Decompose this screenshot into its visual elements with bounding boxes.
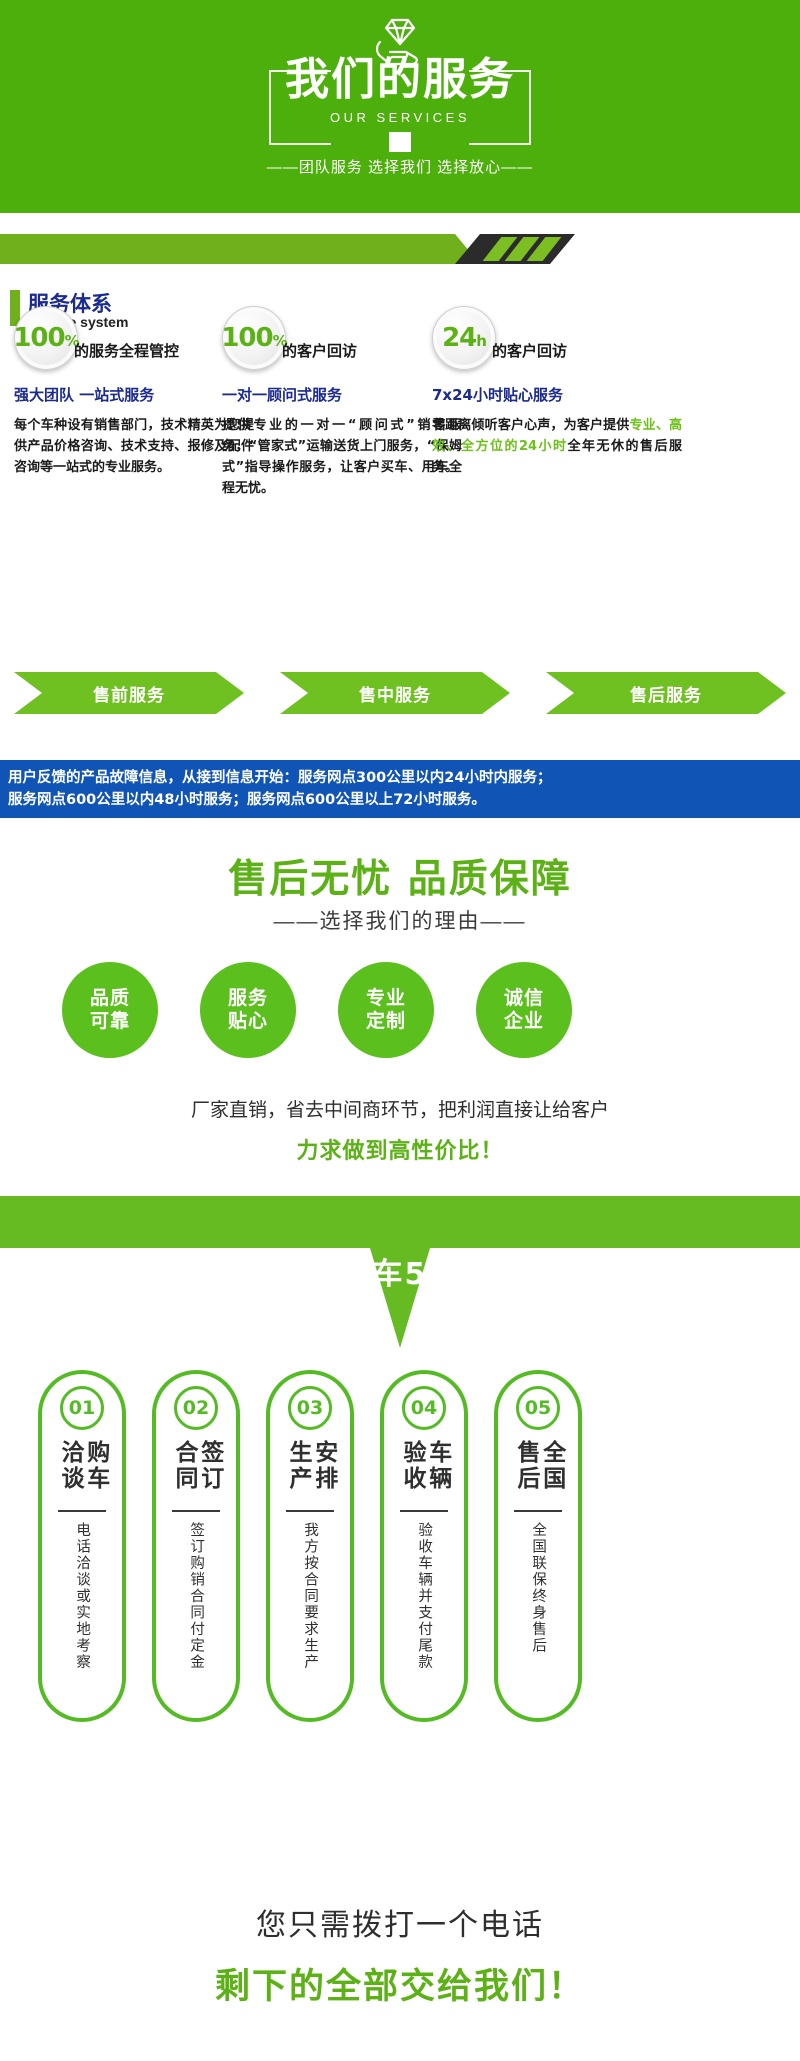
circle-line-2: 贴心 xyxy=(228,1010,268,1033)
guarantee-circle-integrity: 诚信 企业 xyxy=(476,962,572,1058)
guarantee-title: 售后无忧 品质保障 xyxy=(0,848,800,904)
metric-badge: 24h xyxy=(432,306,496,370)
metric-badge: 100% xyxy=(14,306,78,370)
service-policy-banner: 用户反馈的产品故障信息，从接到信息开始：服务网点300公里以内24小时内服务； … xyxy=(0,760,800,818)
circle-line-2: 定制 xyxy=(366,1010,406,1033)
guarantee-circle-quality: 品质 可靠 xyxy=(62,962,158,1058)
feature-body: 提供专业的一对一“顾问式”销售服务，“管家式”运输送货上门服务，“保姆式”指导操… xyxy=(222,415,462,499)
feature-body: 每个车种设有销售部门，技术精英为您提供产品价格咨询、技术支持、报修及配件咨询等一… xyxy=(14,415,254,478)
step-divider xyxy=(172,1510,220,1512)
feature-column-1: 100% 的服务全程管控 强大团队 一站式服务 每个车种设有销售部门，技术精英为… xyxy=(14,306,254,478)
step-description: 我方按合同要求生产 xyxy=(301,1522,319,1712)
phase-tab-label: 售中服务 xyxy=(359,681,431,706)
step-title: 安排生产 xyxy=(284,1440,336,1502)
guarantee-note-2: 力求做到高性价比！ xyxy=(0,1133,800,1165)
angled-divider-banner xyxy=(0,218,800,280)
feature-column-3: 24h 的客户回访 7x24小时贴心服务 零距离倾听客户心声，为客户提供专业、高… xyxy=(432,306,682,478)
metric-badge: 100% xyxy=(222,306,286,370)
circle-line-2: 企业 xyxy=(504,1010,544,1033)
phase-tab-during-sale[interactable]: 售中服务 xyxy=(280,672,510,714)
step-description: 验收车辆并支付尾款 xyxy=(415,1522,433,1712)
step-description: 签订购销合同付定金 xyxy=(187,1522,205,1712)
badge-caption: 的客户回访 xyxy=(492,340,567,361)
step-title: 车辆验收 xyxy=(398,1440,450,1502)
badge-caption: 的客户回访 xyxy=(282,340,357,361)
body-pre: 零距离倾听客户心声，为客户提供 xyxy=(432,418,629,433)
step-divider xyxy=(286,1510,334,1512)
circle-line-2: 可靠 xyxy=(90,1010,130,1033)
body-highlight-2: 24小时 xyxy=(519,439,568,454)
step-number: 04 xyxy=(402,1386,446,1430)
circle-line-1: 诚信 xyxy=(504,987,544,1010)
step-number: 01 xyxy=(60,1386,104,1430)
purchase-step-1[interactable]: 01 购车洽谈 电话洽谈或实地考察 xyxy=(38,1370,126,1722)
badge-caption: 的服务全程管控 xyxy=(74,340,179,361)
step-number: 05 xyxy=(516,1386,560,1430)
badge-row: 100% 的服务全程管控 xyxy=(14,306,254,378)
policy-line-1: 用户反馈的产品故障信息，从接到信息开始：服务网点300公里以内24小时内服务； xyxy=(8,767,792,789)
phase-tab-label: 售前服务 xyxy=(93,681,165,706)
hero-tagline: ——团队服务 选择我们 选择放心—— xyxy=(267,156,533,177)
step-number: 03 xyxy=(288,1386,332,1430)
step-divider xyxy=(514,1510,562,1512)
hero-tick-decoration xyxy=(389,132,411,152)
badge-number: 100% xyxy=(13,323,78,353)
guarantee-subtitle: ——选择我们的理由—— xyxy=(0,905,800,935)
step-description: 全国联保终身售后 xyxy=(529,1522,547,1712)
step-number: 02 xyxy=(174,1386,218,1430)
circle-line-1: 专业 xyxy=(366,987,406,1010)
step-title: 全国售后 xyxy=(512,1440,564,1502)
phase-tab-label: 售后服务 xyxy=(630,681,702,706)
purchase-flow-title: 轻松购车5步搞定 xyxy=(0,1249,800,1293)
hero-title: 我们的服务 xyxy=(285,58,515,102)
hero-banner: 我们的服务 OUR SERVICES ——团队服务 选择我们 选择放心—— xyxy=(0,0,800,213)
step-title: 购车洽谈 xyxy=(56,1440,108,1502)
hero-subtitle: OUR SERVICES xyxy=(330,110,470,125)
purchase-step-5[interactable]: 05 全国售后 全国联保终身售后 xyxy=(494,1370,582,1722)
phase-tab-pre-sale[interactable]: 售前服务 xyxy=(14,672,244,714)
circle-line-1: 品质 xyxy=(90,987,130,1010)
step-title: 签订合同 xyxy=(170,1440,222,1502)
circle-line-1: 服务 xyxy=(228,987,268,1010)
feature-heading: 一对一顾问式服务 xyxy=(222,384,462,405)
step-description: 电话洽谈或实地考察 xyxy=(73,1522,91,1712)
feature-heading: 强大团队 一站式服务 xyxy=(14,384,254,405)
badge-row: 100% 的客户回访 xyxy=(222,306,462,378)
purchase-step-4[interactable]: 04 车辆验收 验收车辆并支付尾款 xyxy=(380,1370,468,1722)
badge-number: 100% xyxy=(221,323,286,353)
step-divider xyxy=(58,1510,106,1512)
badge-row: 24h 的客户回访 xyxy=(432,306,682,378)
guarantee-note-1: 厂家直销，省去中间商环节，把利润直接让给客户 xyxy=(0,1095,800,1122)
phase-tab-after-sale[interactable]: 售后服务 xyxy=(546,672,786,714)
step-divider xyxy=(400,1510,448,1512)
badge-number: 24h xyxy=(442,323,486,353)
feature-body: 零距离倾听客户心声，为客户提供专业、高效、全方位的24小时全年无休的售后服务。 xyxy=(432,415,682,478)
guarantee-circle-service: 服务 贴心 xyxy=(200,962,296,1058)
purchase-step-2[interactable]: 02 签订合同 签订购销合同付定金 xyxy=(152,1370,240,1722)
purchase-step-3[interactable]: 03 安排生产 我方按合同要求生产 xyxy=(266,1370,354,1722)
policy-line-2: 服务网点600公里以内48小时服务；服务网点600公里以上72小时服务。 xyxy=(8,789,792,811)
cta-line-1: 您只需拨打一个电话 xyxy=(0,1900,800,1944)
feature-column-2: 100% 的客户回访 一对一顾问式服务 提供专业的一对一“顾问式”销售服务，“管… xyxy=(222,306,462,499)
divider-green-bar xyxy=(0,234,480,264)
guarantee-circle-custom: 专业 定制 xyxy=(338,962,434,1058)
feature-heading: 7x24小时贴心服务 xyxy=(432,384,682,405)
cta-line-2: 剩下的全部交给我们！ xyxy=(0,1958,800,2009)
